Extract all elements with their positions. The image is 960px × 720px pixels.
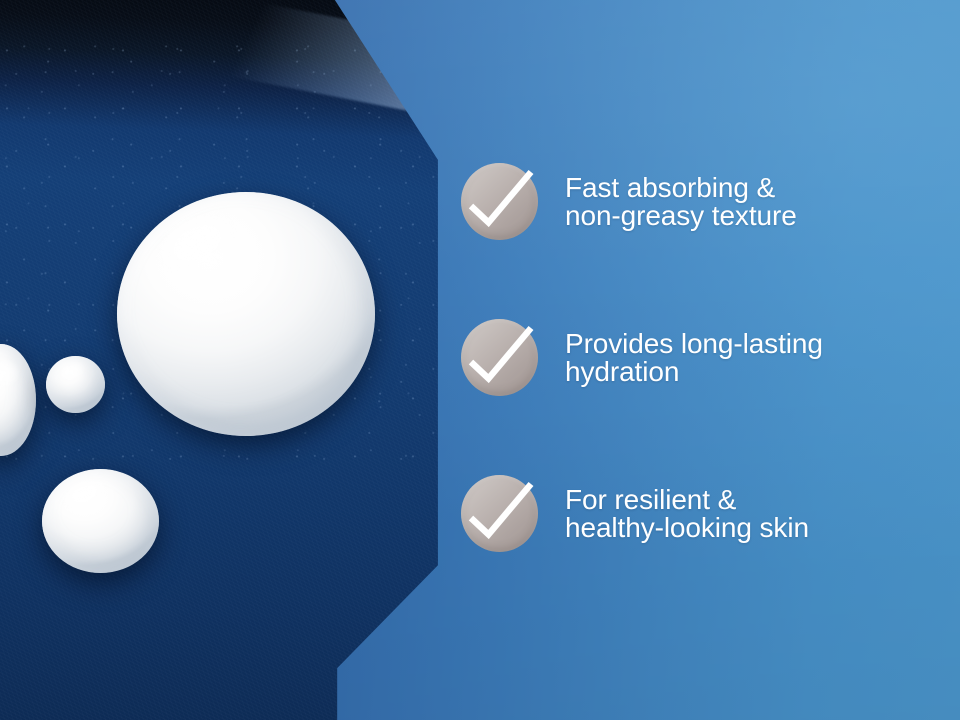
droplet-edge: [0, 344, 36, 456]
product-photo-region: [0, 0, 460, 720]
droplet-body: [117, 192, 375, 436]
droplet-bottom: [42, 469, 159, 573]
benefit-text: Provides long-lasting hydration: [565, 330, 823, 386]
check-icon: [461, 319, 538, 396]
check-icon: [461, 163, 538, 240]
droplet-large: [117, 192, 375, 436]
benefit-item: Provides long-lasting hydration: [461, 319, 931, 396]
droplet-small: [46, 356, 105, 413]
benefit-item: Fast absorbing & non-greasy texture: [461, 163, 931, 240]
slide-canvas: Fast absorbing & non-greasy texture Prov…: [0, 0, 960, 720]
check-icon: [461, 475, 538, 552]
benefits-list: Fast absorbing & non-greasy texture Prov…: [461, 163, 931, 552]
benefit-text: For resilient & healthy-looking skin: [565, 486, 809, 542]
benefit-text: Fast absorbing & non-greasy texture: [565, 174, 797, 230]
benefit-item: For resilient & healthy-looking skin: [461, 475, 931, 552]
